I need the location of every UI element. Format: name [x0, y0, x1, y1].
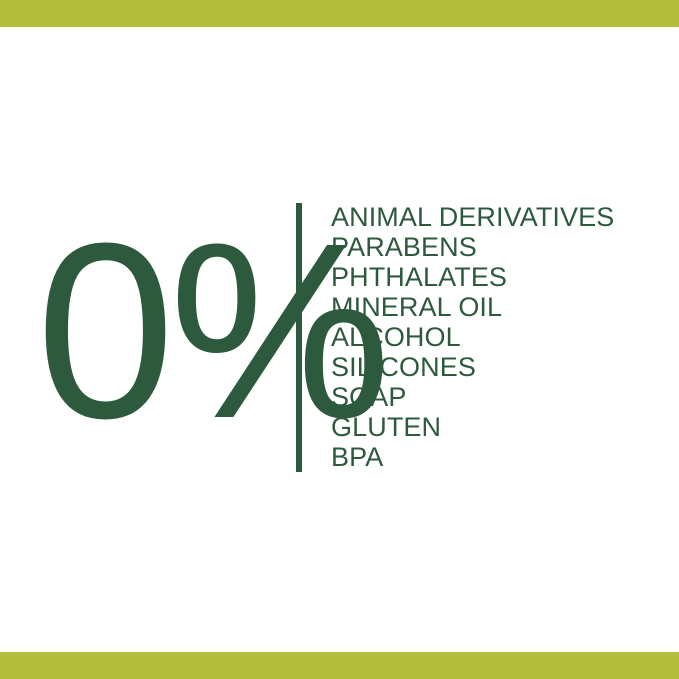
zero-percent-figure: 0%	[36, 220, 286, 440]
list-item: SILICONES	[331, 352, 661, 382]
free-from-list: ANIMAL DERIVATIVES PARABENS PHTHALATES M…	[331, 202, 661, 472]
list-item: PHTHALATES	[331, 262, 661, 292]
list-item: ANIMAL DERIVATIVES	[331, 202, 661, 232]
top-accent-bar	[0, 0, 679, 27]
bottom-accent-bar	[0, 652, 679, 679]
panel-content: 0% ANIMAL DERIVATIVES PARABENS PHTHALATE…	[0, 27, 679, 652]
list-item: PARABENS	[331, 232, 661, 262]
list-item: MINERAL OIL	[331, 292, 661, 322]
list-item: GLUTEN	[331, 412, 661, 442]
list-item: BPA	[331, 442, 661, 472]
product-claims-panel: 0% ANIMAL DERIVATIVES PARABENS PHTHALATE…	[0, 0, 679, 679]
list-item: ALCOHOL	[331, 322, 661, 352]
list-item: SOAP	[331, 382, 661, 412]
vertical-divider	[296, 203, 302, 472]
